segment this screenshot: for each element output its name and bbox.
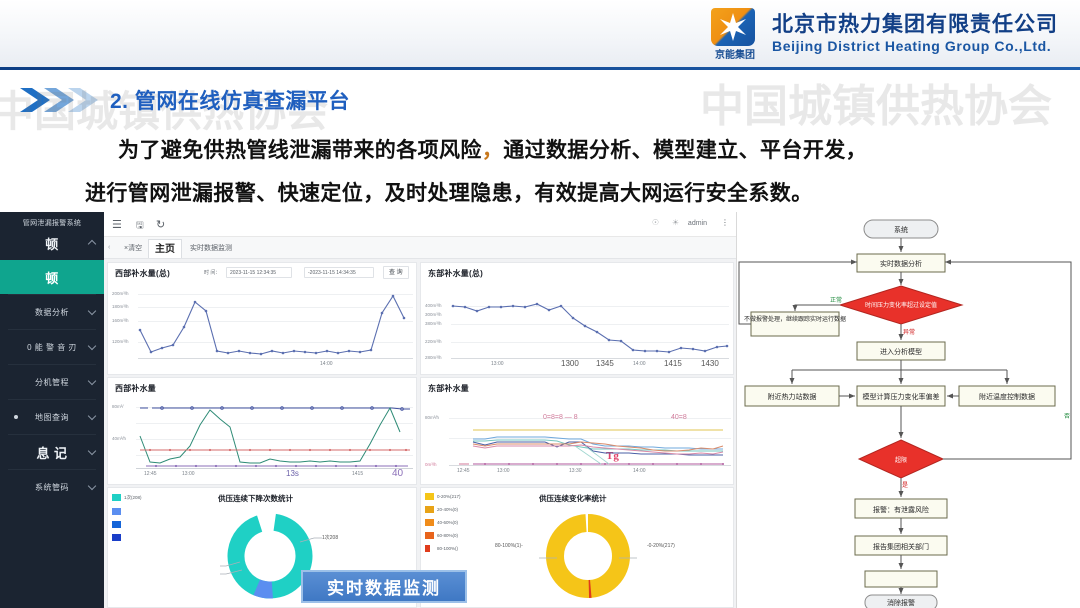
tab-label: 实时数据监测	[190, 245, 232, 252]
flow-node-label: 模型计算压力变化率偏差	[863, 392, 940, 401]
sidebar-item-5[interactable]: 地图查询	[0, 400, 104, 434]
flow-node-near-temp: 附近温度控制数据	[959, 386, 1055, 406]
user-label[interactable]: admin	[688, 220, 707, 227]
x-tick-label: 1430	[701, 359, 719, 368]
query-button[interactable]: 查 询	[383, 266, 409, 279]
y-tick-label: 380m³/h	[425, 321, 442, 326]
chevron-down-icon	[88, 412, 96, 420]
y-tick-label: 80m³/h	[425, 415, 439, 420]
tab-label: 清空	[128, 245, 142, 252]
legend-label: 80-100%()	[437, 546, 458, 551]
chevron-down-icon	[88, 342, 96, 350]
flow-node-end: 消除报警	[865, 595, 937, 608]
flow-edge-label-normal: 正常	[830, 296, 842, 304]
flow-node-decision-2: 超限	[859, 440, 943, 478]
flow-node-decision-1: 时间压力变化率超过设定值	[840, 286, 962, 324]
flow-node-report: 报告集团相关部门	[855, 536, 947, 555]
dashboard-content: ☰ 🖫 ↻ ☉ ☀ admin ⋮ ‹ ×清空 主页 实时数据监测 西部补水量(…	[104, 212, 737, 608]
x-tick-label: 1415	[352, 471, 363, 477]
y-tick-label: 180m³/h	[112, 304, 129, 309]
flow-node-near-station: 附近热力站数据	[745, 386, 839, 406]
time-range-label: 时 间：	[204, 269, 220, 276]
tab-clear[interactable]: ×清空	[118, 240, 148, 257]
y-tick-label: 40m³/h	[112, 436, 126, 441]
chevron-left-icon[interactable]: ‹	[108, 244, 110, 251]
y-tick-label: 160m³/h	[112, 318, 129, 323]
y-tick-label: 280m³/h	[425, 355, 442, 360]
y-tick-label: 0m³/h	[425, 462, 437, 467]
x-tick-label: 13:00	[491, 361, 504, 367]
y-tick-label: 400m³/h	[425, 303, 442, 308]
panel-donut-change-rate: 供压连续变化率统计 0-20%(217) 20-40%(0) 40-60%(0)…	[420, 487, 734, 608]
x-tick-label: 1415	[664, 359, 682, 368]
panel-title: 西部补水量	[115, 383, 156, 394]
flow-node-label: 系统	[894, 225, 908, 234]
panel-title: 西部补水量(总)	[115, 268, 170, 279]
y-tick-label: 300m³/h	[425, 312, 442, 317]
sidebar-item-0[interactable]: 顿	[0, 226, 104, 260]
sidebar-item-4[interactable]: 分机管程	[0, 365, 104, 399]
sidebar-item-label: 系统管码	[35, 482, 69, 493]
star-burst-icon	[711, 8, 755, 46]
x-tick-label: 12:45	[144, 471, 157, 477]
legend-swatch	[425, 532, 434, 539]
chevron-down-icon	[88, 447, 96, 455]
dashboard-topbar: ☰ 🖫 ↻ ☉ ☀ admin ⋮	[104, 212, 737, 237]
panel-west-total: 西部补水量(总) 时 间： 2023-11-15 12:34:35 -2023-…	[107, 262, 417, 375]
y-tick-label: 80m³/	[112, 404, 124, 409]
line-chart-west-total	[138, 285, 414, 359]
legend-label: 40-60%(0)	[437, 520, 458, 525]
legend-swatch	[112, 521, 121, 528]
x-tick-label: 13:00	[497, 468, 510, 474]
legend-swatch	[425, 506, 434, 513]
body-paragraph-line-2: 进行管网泄漏报警、快速定位，及时处理隐患，有效提高大网运行安全系数。	[85, 177, 813, 207]
donut-callout-left: 80-100%(1)-	[495, 543, 523, 549]
flow-node-model: 进入分析模型	[857, 342, 945, 360]
x-tick-label: 14:00	[320, 361, 333, 367]
donut-callout-label: 1次208	[322, 534, 338, 541]
line-chart-east-total	[451, 299, 729, 359]
legend-swatch	[112, 534, 121, 541]
flow-node-label: 消除报警	[887, 598, 915, 607]
legend-label: 0-20%(217)	[437, 494, 461, 499]
more-vertical-icon[interactable]: ⋮	[721, 218, 729, 227]
theme-icon[interactable]: ☀	[672, 218, 679, 227]
sidebar-item-label: 地图查询	[35, 412, 69, 423]
legend-swatch	[112, 508, 121, 515]
line-chart-east-multi	[449, 416, 731, 468]
chevron-decoration-icon	[18, 85, 114, 115]
body-text-b: 通过数据分析、模型建立、平台开发，	[503, 139, 867, 162]
dashboard-sidebar: 管网泄漏报警系统 顿 顿 数据分析 0 能 警 音 刃 分机管程 地图查询	[0, 212, 104, 608]
x-tick-label: 13:30	[569, 468, 582, 474]
flow-node-start: 系统	[864, 220, 938, 238]
sidebar-item-label: 0 能 警 音 刃	[27, 342, 77, 353]
panel-title: 供压连续变化率统计	[539, 493, 607, 504]
flow-node-normal: 不做报警处理，继续跟踪实时运行数据	[744, 312, 846, 336]
panel-west: 西部补水量 80m³/ 40m³/h 12:45 13:00 13s 1415 …	[107, 377, 417, 485]
sidebar-item-label: 数据分析	[35, 307, 69, 318]
y-tick-label: 220m³/h	[425, 339, 442, 344]
panel-title: 东部补水量(总)	[428, 268, 483, 279]
dashboard-screenshot: 管网泄漏报警系统 顿 顿 数据分析 0 能 警 音 刃 分机管程 地图查询	[0, 212, 737, 608]
flow-edge-label-abnormal: 异常	[903, 328, 915, 336]
flow-node-label: 报警：有泄露风险	[873, 505, 929, 514]
save-icon[interactable]: 🖫	[136, 218, 144, 234]
flow-node-model-calc: 模型计算压力变化率偏差	[857, 386, 945, 406]
flow-node-label: 实时数据分析	[880, 259, 922, 268]
x-tick-label: 1300	[561, 359, 579, 368]
legend-swatch	[425, 545, 430, 552]
chevron-down-icon	[88, 377, 96, 385]
y-tick-label: 120m³/h	[112, 339, 129, 344]
x-tick-label: 13:00	[182, 471, 195, 477]
x-tick-label: 14:00	[633, 361, 646, 367]
flow-node-label: 时间压力变化率超过设定值	[865, 301, 937, 309]
shield-star-icon	[711, 8, 755, 46]
panel-east-total: 东部补水量(总) 400m³/h 300m³/h 380m³/h 220m³/h…	[420, 262, 734, 375]
sidebar-item-label: 顿	[45, 234, 59, 253]
sidebar-item-label: 息 记	[36, 443, 67, 462]
legend-swatch	[112, 494, 121, 501]
line-chart-west-multi	[136, 402, 413, 470]
sidebar-item-7[interactable]: 系统管码	[0, 470, 104, 504]
chevron-down-icon	[88, 307, 96, 315]
help-icon[interactable]: ☉	[652, 218, 659, 227]
watermark: 中国城镇供热协会	[700, 70, 1052, 134]
flow-edge-label-over: 是	[902, 482, 908, 489]
flow-node-label: 超限	[895, 456, 907, 464]
hamburger-icon[interactable]: ☰	[112, 218, 122, 231]
sidebar-item-3[interactable]: 0 能 警 音 刃	[0, 330, 104, 364]
x-tick-label: 14:00	[633, 468, 646, 474]
panel-east: 东部补水量 80m³/h 0m³/h 0=8=8 — 8 40=8 Tg 12:…	[420, 377, 734, 485]
sidebar-item-label: 分机管程	[35, 377, 69, 388]
body-text-a: 为了避免供热管线泄漏带来的各项风险	[118, 139, 482, 162]
legend-swatch	[425, 493, 434, 500]
chevron-down-icon	[88, 482, 96, 490]
flow-node-blank	[865, 571, 937, 587]
header-divider	[0, 67, 1080, 70]
page-title: 2. 管网在线仿真查漏平台	[110, 85, 350, 115]
chevron-up-icon	[88, 240, 96, 248]
sidebar-item-1[interactable]: 顿	[0, 260, 104, 294]
logo-label: 京能集团	[703, 46, 767, 61]
sidebar-item-6[interactable]: 息 记	[0, 435, 104, 469]
tab-home[interactable]: 主页	[148, 239, 182, 258]
end-time-input[interactable]: -2023-11-15 14:34:35	[304, 267, 374, 278]
flow-node-label: 附近热力站数据	[768, 392, 817, 401]
legend-label: 60-80%(0)	[437, 533, 458, 538]
body-comma: ，	[482, 139, 503, 162]
x-tick-label: 1345	[596, 359, 614, 368]
tab-label: 主页	[155, 244, 175, 255]
panel-title: 东部补水量	[428, 383, 469, 394]
panel-title: 供压连续下降次数统计	[218, 493, 293, 504]
company-name-cn: 北京市热力集团有限责任公司	[772, 8, 1058, 38]
y-tick-label: 200m³/h	[112, 291, 129, 296]
callout-label: 实时数据监测	[327, 574, 441, 599]
flow-node-label: 报告集团相关部门	[873, 542, 929, 551]
company-name-en: Beijing District Heating Group Co.,Ltd.	[772, 38, 1051, 54]
donut-callout-right: -0-20%(217)	[647, 543, 675, 549]
company-logo: 京能集团	[703, 6, 767, 62]
x-tick-label: 13s	[286, 469, 299, 478]
donut-chart-change-rate	[533, 510, 643, 602]
refresh-icon[interactable]: ↻	[156, 218, 165, 231]
x-tick-label: 12:45	[457, 468, 470, 474]
legend-label: 1次(208)	[124, 495, 142, 501]
legend-label: 20-40%(0)	[437, 507, 458, 512]
body-paragraph-line-1: 为了避免供热管线泄漏带来的各项风险，通过数据分析、模型建立、平台开发，	[118, 134, 867, 164]
flowchart-diagram: 系统 实时数据分析 时间压力变化率超过设定值 正常 异常 不做报警处理，继续跟踪…	[737, 212, 1080, 608]
dashboard-tabbar: ‹ ×清空 主页 实时数据监测	[104, 237, 737, 259]
flow-node-label: 进入分析模型	[880, 347, 922, 356]
flow-edge-label-under: 否	[1064, 413, 1070, 420]
flow-node-realtime: 实时数据分析	[857, 254, 945, 272]
flow-node-label-1: 不做报警处理，继续跟踪实时运行数据	[744, 315, 846, 323]
sidebar-item-2[interactable]: 数据分析	[0, 295, 104, 329]
tab-realtime-monitor[interactable]: 实时数据监测	[184, 240, 238, 257]
flow-node-alarm: 报警：有泄露风险	[855, 499, 947, 518]
start-time-input[interactable]: 2023-11-15 12:34:35	[226, 267, 292, 278]
flow-node-label: 附近温度控制数据	[979, 392, 1035, 401]
sidebar-item-label: 顿	[45, 268, 59, 287]
legend-swatch	[425, 519, 434, 526]
realtime-monitor-callout: 实时数据监测	[301, 570, 467, 603]
slide-header: 京能集团 北京市热力集团有限责任公司 Beijing District Heat…	[0, 0, 1080, 67]
